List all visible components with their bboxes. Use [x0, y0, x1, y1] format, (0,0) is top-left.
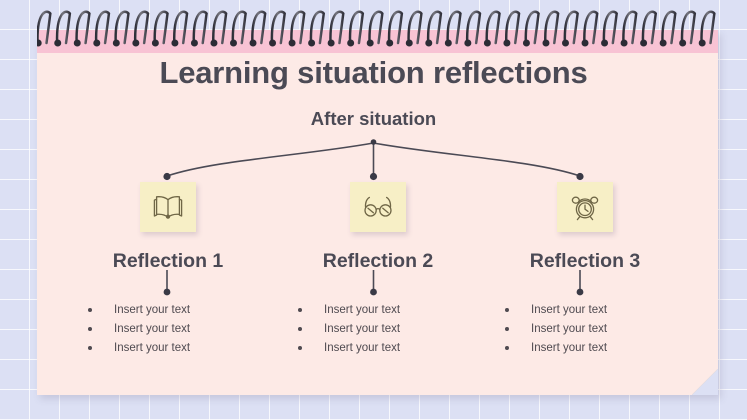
- bullet-list: Insert your text Insert your text Insert…: [485, 301, 685, 358]
- reflection-column: Reflection 3 Insert your text Insert you…: [485, 182, 685, 358]
- reflection-title: Reflection 2: [278, 250, 478, 273]
- list-item: Insert your text: [505, 301, 685, 320]
- slide-canvas: Learning situation reflections After sit…: [0, 0, 747, 420]
- bullet-list: Insert your text Insert your text Insert…: [68, 301, 268, 358]
- reflection-title: Reflection 1: [68, 250, 268, 273]
- eyeglasses-icon: [362, 193, 394, 221]
- sticky-note[interactable]: [557, 182, 613, 232]
- list-item: Insert your text: [298, 301, 478, 320]
- open-book-icon: [152, 193, 184, 221]
- reflection-title: Reflection 3: [485, 250, 685, 273]
- reflection-column: Reflection 2 Insert your text Insert you…: [278, 182, 478, 358]
- list-item: Insert your text: [88, 301, 268, 320]
- sticky-note[interactable]: [140, 182, 196, 232]
- list-item: Insert your text: [505, 320, 685, 339]
- list-item: Insert your text: [88, 339, 268, 358]
- reflection-column: Reflection 1 Insert your text Insert you…: [68, 182, 268, 358]
- page-corner-cut: [692, 369, 718, 395]
- page-title: Learning situation reflections: [0, 55, 747, 91]
- page-subtitle: After situation: [0, 108, 747, 130]
- list-item: Insert your text: [298, 339, 478, 358]
- list-item: Insert your text: [505, 339, 685, 358]
- notepad-header-band: [37, 30, 718, 53]
- alarm-clock-icon: [569, 192, 601, 222]
- sticky-note[interactable]: [350, 182, 406, 232]
- bullet-list: Insert your text Insert your text Insert…: [278, 301, 478, 358]
- list-item: Insert your text: [88, 320, 268, 339]
- list-item: Insert your text: [298, 320, 478, 339]
